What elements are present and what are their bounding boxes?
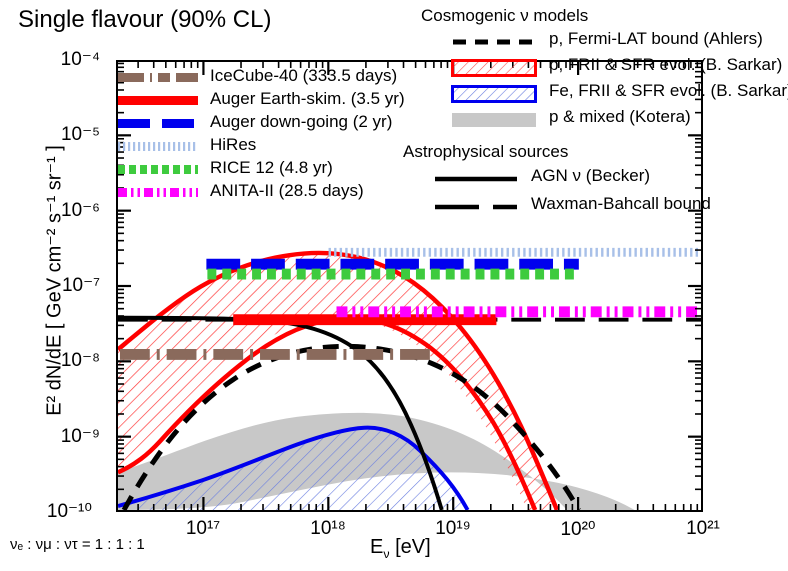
legend-swatch-anita2 <box>118 185 198 196</box>
legend-item-hires[interactable]: HiRes <box>118 133 405 156</box>
legend-item-waxman-bahcall[interactable]: Waxman-Bahcall bound <box>433 190 711 218</box>
legend-item-auger-earth-skimming[interactable]: Auger Earth-skim. (3.5 yr) <box>118 87 405 110</box>
xtick-label: 10¹⁷ <box>163 518 243 540</box>
xtick-label: 10²¹ <box>663 518 743 540</box>
legend-item-icecube40[interactable]: IceCube-40 (333.5 days) <box>118 64 405 87</box>
legend-label-icecube40: IceCube-40 (333.5 days) <box>210 66 397 86</box>
figure-title: Single flavour (90% CL) <box>18 6 271 34</box>
legend-swatch-agn-becker <box>433 170 519 183</box>
flavour-ratio-annotation: νₑ : νμ : ντ = 1 : 1 : 1 <box>10 536 145 553</box>
legend-item-anita2[interactable]: ANITA-II (28.5 days) <box>118 179 405 202</box>
xtick-label: 10¹⁸ <box>288 518 368 540</box>
legend-experiments: IceCube-40 (333.5 days) Auger Earth-skim… <box>118 64 405 202</box>
legend-label-auger-earth-skimming: Auger Earth-skim. (3.5 yr) <box>210 89 405 109</box>
legend-swatch-auger-earth-skimming <box>118 93 198 104</box>
legend-swatch-auger-down-going <box>118 116 198 127</box>
y-axis-label: E² dN/dE [ GeV cm⁻² s⁻¹ sr⁻¹ ] <box>42 81 67 481</box>
legend-label-sarkar-fe: Fe, FRII & SFR evol. (B. Sarkar) <box>549 81 788 101</box>
legend-label-ahlers: p, Fermi-LAT bound (Ahlers) <box>549 29 763 49</box>
legend-label-auger-down-going: Auger down-going (2 yr) <box>210 112 392 132</box>
legend-item-agn-becker[interactable]: AGN ν (Becker) <box>433 162 711 190</box>
legend-swatch-sarkar-fe <box>451 85 537 98</box>
x-axis-label-e: E <box>370 536 383 558</box>
legend-label-agn-becker: AGN ν (Becker) <box>531 166 650 186</box>
legend-astrophysical-header: Astrophysical sources <box>403 142 711 162</box>
legend-item-kotera[interactable]: p & mixed (Kotera) <box>451 104 788 130</box>
x-axis-label-unit-text: [eV] <box>395 536 431 558</box>
legend-swatch-kotera <box>451 111 537 124</box>
legend-label-hires: HiRes <box>210 135 256 155</box>
xtick-label: 10²⁰ <box>538 518 618 541</box>
legend-swatch-ahlers <box>451 33 537 46</box>
legend-item-sarkar-p[interactable]: p, FRII & SFR evol. (B. Sarkar) <box>451 52 788 78</box>
legend-swatch-waxman-bahcall <box>433 198 519 211</box>
figure-canvas: Single flavour (90% CL) <box>0 0 788 571</box>
legend-label-rice12: RICE 12 (4.8 yr) <box>210 158 333 178</box>
legend-label-anita2: ANITA-II (28.5 days) <box>210 181 364 201</box>
legend-cosmogenic-header: Cosmogenic ν models <box>421 6 788 26</box>
legend-swatch-icecube40 <box>118 70 198 81</box>
legend-astrophysical: Astrophysical sources AGN ν (Becker) Wax… <box>403 142 711 218</box>
legend-item-auger-down-going[interactable]: Auger down-going (2 yr) <box>118 110 405 133</box>
legend-item-ahlers[interactable]: p, Fermi-LAT bound (Ahlers) <box>451 26 788 52</box>
legend-swatch-hires <box>118 139 198 150</box>
legend-swatch-sarkar-p <box>451 59 537 72</box>
legend-cosmogenic: Cosmogenic ν models p, Fermi-LAT bound (… <box>421 6 788 130</box>
legend-label-sarkar-p: p, FRII & SFR evol. (B. Sarkar) <box>549 55 782 75</box>
ytick-label: 10⁻¹⁰ <box>22 500 92 523</box>
legend-label-waxman-bahcall: Waxman-Bahcall bound <box>531 194 711 214</box>
legend-item-sarkar-fe[interactable]: Fe, FRII & SFR evol. (B. Sarkar) <box>451 78 788 104</box>
legend-item-rice12[interactable]: RICE 12 (4.8 yr) <box>118 156 405 179</box>
legend-label-kotera: p & mixed (Kotera) <box>549 107 691 127</box>
ytick-label: 10⁻⁴ <box>30 48 100 71</box>
x-axis-label: Eν [eV] <box>370 536 431 561</box>
legend-swatch-rice12 <box>118 162 198 173</box>
